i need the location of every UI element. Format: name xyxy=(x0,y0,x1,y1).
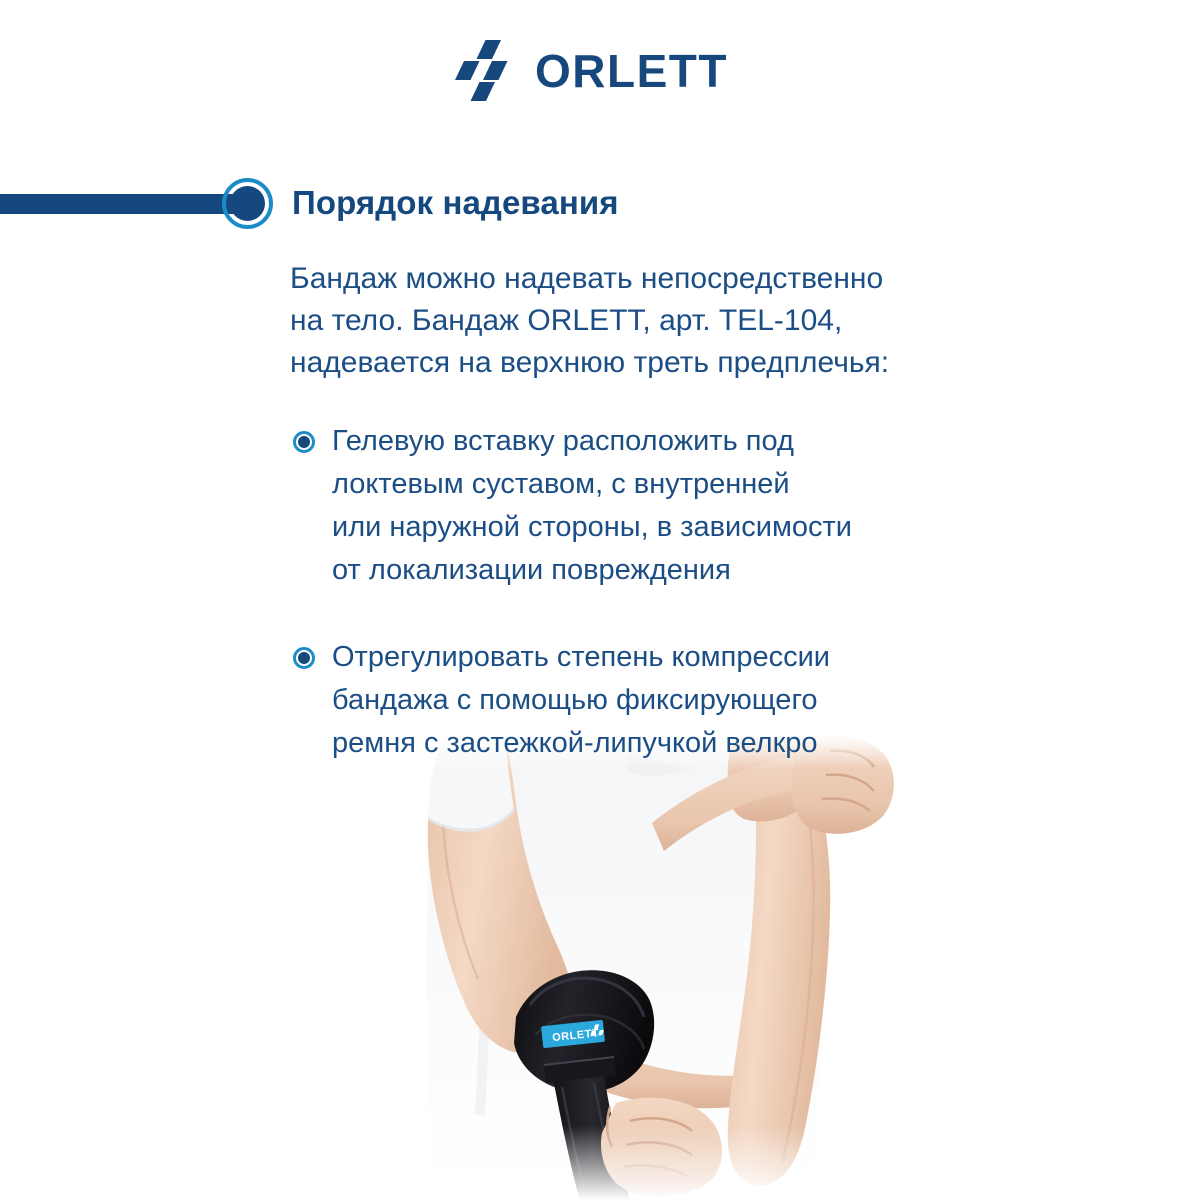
list-item: Гелевую вставку расположить под локтевым… xyxy=(290,420,1030,592)
intro-line: на тело. Бандаж ORLETT, арт. TEL-104, xyxy=(290,300,1030,342)
bullet-line: локтевым суставом, с внутренней xyxy=(332,463,1030,506)
intro-line: надевается на верхнюю треть предплечья: xyxy=(290,342,1030,384)
heading-rule-bar xyxy=(0,194,250,214)
product-photo: ORLETT xyxy=(330,735,920,1200)
marker-core xyxy=(230,186,265,221)
bullet-core xyxy=(298,436,310,448)
intro-paragraph: Бандаж можно надевать непосредственно на… xyxy=(290,258,1030,384)
orlett-diamond-mark-icon xyxy=(455,40,517,102)
section-marker-circle-icon xyxy=(222,178,273,229)
list-item-text: Отрегулировать степень компрессии бандаж… xyxy=(332,636,1030,765)
bullet-line: ремня с застежкой-липучкой велкро xyxy=(332,722,1030,765)
bullet-line: Гелевую вставку расположить под xyxy=(332,420,1030,463)
bullet-line: или наружной стороны, в зависимости xyxy=(332,506,1030,549)
orlett-wordmark: ORLETT xyxy=(535,48,728,94)
page-title: Порядок надевания xyxy=(292,180,619,226)
bullet-line: Отрегулировать степень компрессии xyxy=(332,636,1030,679)
instructions-content: Бандаж можно надевать непосредственно на… xyxy=(290,258,1030,765)
orlett-logo: ORLETT xyxy=(455,40,728,102)
bullet-circle-icon xyxy=(293,431,315,453)
instruction-steps-list: Гелевую вставку расположить под локтевым… xyxy=(290,420,1030,765)
bullet-line: бандажа с помощью фиксирующего xyxy=(332,679,1030,722)
bullet-circle-icon xyxy=(293,647,315,669)
intro-line: Бандаж можно надевать непосредственно xyxy=(290,258,1030,300)
list-item: Отрегулировать степень компрессии бандаж… xyxy=(290,636,1030,765)
section-heading: Порядок надевания xyxy=(0,178,1200,230)
list-item-text: Гелевую вставку расположить под локтевым… xyxy=(332,420,1030,592)
page-root: ORLETT Порядок надевания Бандаж можно на… xyxy=(0,0,1200,1200)
bullet-core xyxy=(298,652,310,664)
product-photo-illustration: ORLETT xyxy=(330,735,920,1200)
bullet-line: от локализации повреждения xyxy=(332,549,1030,592)
